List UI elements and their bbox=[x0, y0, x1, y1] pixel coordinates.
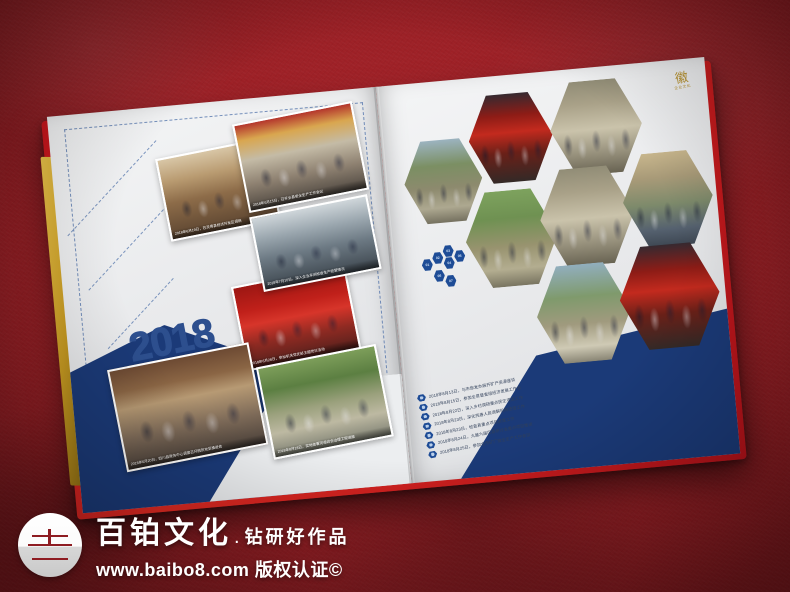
brand-name: 百铂文化 bbox=[96, 508, 232, 552]
watermark-bar: 百铂文化 . 钻研好作品 www.baibo8.com 版权认证© bbox=[18, 508, 350, 582]
brand-slogan: 钻研好作品 bbox=[245, 523, 350, 549]
screenshot-stage: 2018 2018年6月—2018年8月 JUNE. 2018—AUGUST. … bbox=[0, 0, 790, 592]
vignette-overlay bbox=[0, 0, 790, 592]
baibo-logo-icon bbox=[18, 513, 82, 577]
brand-dot: . bbox=[234, 526, 240, 549]
brand-url: www.baibo8.com 版权认证© bbox=[96, 556, 350, 582]
watermark-text: 百铂文化 . 钻研好作品 www.baibo8.com 版权认证© bbox=[96, 508, 350, 582]
